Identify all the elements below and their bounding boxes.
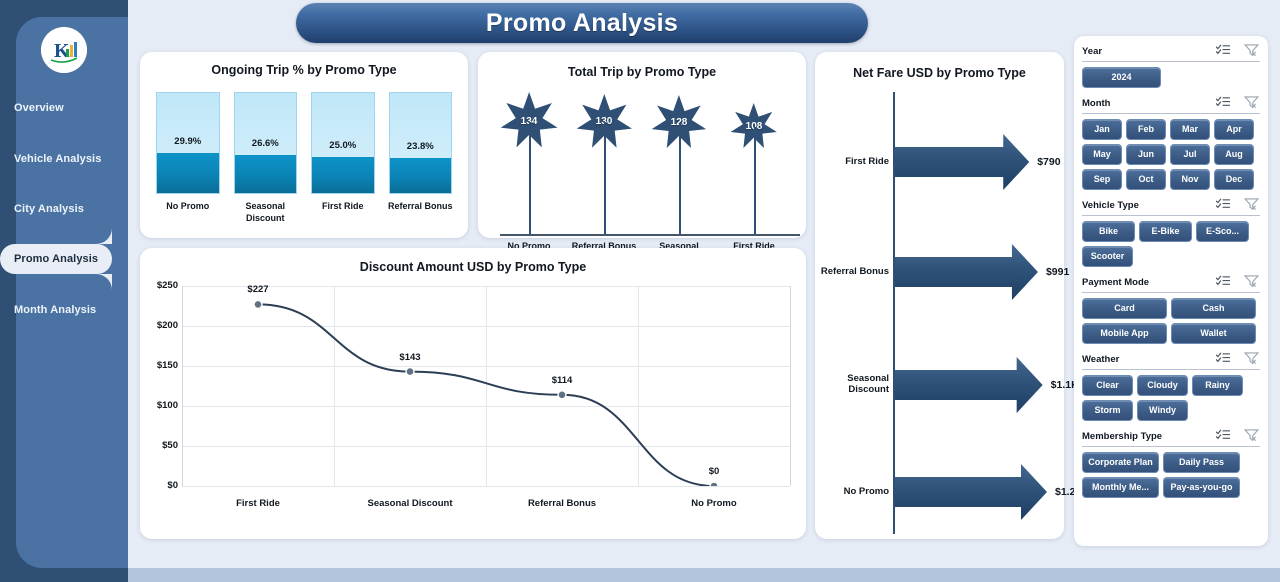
- chart-net-fare: Net Fare USD by Promo Type First Ride$79…: [815, 52, 1064, 539]
- filter-chip-list: 2024: [1082, 67, 1260, 88]
- chart-title-ongoing-trip: Ongoing Trip % by Promo Type: [140, 63, 468, 77]
- chart-ongoing-trip-pct: Ongoing Trip % by Promo Type 29.9%No Pro…: [140, 52, 468, 238]
- filter-header: Weather: [1082, 350, 1260, 369]
- x-axis-tick-label: Referral Bonus: [492, 498, 632, 509]
- filter-chip-oct[interactable]: Oct: [1126, 169, 1166, 190]
- sidebar-item-vehicle-analysis[interactable]: Vehicle Analysis: [0, 144, 112, 174]
- gridline-horizontal: [182, 486, 790, 487]
- sidebar-item-overview[interactable]: Overview: [0, 93, 112, 123]
- sidebar-active-notch-bottom: [96, 274, 112, 290]
- discount-amount-value-label: $0: [684, 466, 744, 477]
- ongoing-trip-bar-fill: [235, 155, 297, 193]
- ongoing-trip-bar-column[interactable]: 25.0%First Ride: [311, 92, 375, 194]
- page-title-text: Promo Analysis: [486, 9, 678, 38]
- filter-chip-mar[interactable]: Mar: [1170, 119, 1210, 140]
- x-axis-tick-label: Seasonal Discount: [340, 498, 480, 509]
- total-trip-stem: [529, 122, 531, 234]
- filter-chip-daily-pass[interactable]: Daily Pass: [1163, 452, 1240, 473]
- sidebar-item-city-analysis[interactable]: City Analysis: [0, 194, 112, 224]
- filter-chip-list: Corporate PlanDaily PassMonthly Me...Pay…: [1082, 452, 1260, 498]
- y-axis-tick-label: $150: [142, 360, 178, 371]
- multi-select-icon[interactable]: [1216, 429, 1231, 447]
- filter-chip-bike[interactable]: Bike: [1082, 221, 1135, 242]
- filter-group-weather: Weather ClearCloudyRainyStormWindy: [1082, 350, 1260, 421]
- net-fare-category-label: Referral Bonus: [815, 266, 889, 277]
- chart-total-trip: Total Trip by Promo Type 134No Promo130R…: [478, 52, 806, 238]
- discount-amount-value-label: $143: [380, 352, 440, 363]
- total-trip-axis-line: [500, 234, 800, 236]
- clear-filter-icon[interactable]: [1244, 429, 1259, 447]
- filter-chip-cloudy[interactable]: Cloudy: [1137, 375, 1188, 396]
- sidebar-item-label: Promo Analysis: [14, 253, 98, 265]
- filter-group-membership-type: Membership Type Corporate PlanDaily Pass…: [1082, 427, 1260, 498]
- filter-title: Membership Type: [1082, 431, 1162, 442]
- total-trip-stem: [754, 127, 756, 234]
- filter-chip-2024[interactable]: 2024: [1082, 67, 1161, 88]
- company-logo-icon: K: [41, 27, 87, 73]
- ongoing-trip-bar-column[interactable]: 29.9%No Promo: [156, 92, 220, 194]
- sidebar-active-notch-top: [96, 228, 112, 244]
- discount-amount-value-label: $227: [228, 284, 288, 295]
- filter-chip-nov[interactable]: Nov: [1170, 169, 1210, 190]
- filter-chip-jul[interactable]: Jul: [1170, 144, 1210, 165]
- y-axis-tick-label: $100: [142, 400, 178, 411]
- net-fare-arrow-row[interactable]: Referral Bonus$991: [815, 242, 1064, 302]
- y-axis-tick-label: $200: [142, 320, 178, 331]
- bottom-strip: [0, 568, 1280, 582]
- net-fare-value-label: $790: [1037, 156, 1060, 168]
- multi-select-icon: [1216, 44, 1231, 57]
- filter-header: Membership Type: [1082, 427, 1260, 446]
- chart-title-net-fare: Net Fare USD by Promo Type: [815, 66, 1064, 80]
- filter-chip-e-sco[interactable]: E-Sco...: [1196, 221, 1249, 242]
- filter-group-month: Month JanFebMarAprMayJunJulAugSepOctNovD…: [1082, 94, 1260, 190]
- sidebar: K OverviewVehicle AnalysisCity AnalysisP…: [0, 0, 128, 582]
- clear-filter-icon: [1244, 198, 1259, 211]
- clear-filter-icon: [1244, 44, 1259, 57]
- ongoing-trip-bar-column[interactable]: 23.8%Referral Bonus: [389, 92, 453, 194]
- discount-amount-line: [182, 286, 790, 486]
- ongoing-trip-category-label: Referral Bonus: [381, 200, 461, 212]
- discount-amount-plot: $0$50$100$150$200$250$227First Ride$143S…: [182, 286, 790, 486]
- multi-select-icon: [1216, 429, 1231, 442]
- ongoing-trip-value-label: 25.0%: [311, 140, 375, 151]
- filter-title: Month: [1082, 98, 1111, 109]
- ongoing-trip-bar-fill: [312, 157, 374, 193]
- chart-title-total-trip: Total Trip by Promo Type: [478, 65, 806, 79]
- net-fare-arrow-shape: [895, 134, 1029, 190]
- sidebar-item-label: Vehicle Analysis: [14, 153, 101, 165]
- x-axis-tick-label: First Ride: [188, 498, 328, 509]
- filter-title: Year: [1082, 46, 1102, 57]
- clear-filter-icon[interactable]: [1244, 96, 1259, 114]
- net-fare-arrow-row[interactable]: SeasonalDiscount$1.1K: [815, 355, 1064, 415]
- ongoing-trip-category-label: First Ride: [303, 200, 383, 212]
- clear-filter-icon[interactable]: [1244, 198, 1259, 216]
- clear-filter-icon[interactable]: [1244, 275, 1259, 293]
- filter-header: Vehicle Type: [1082, 196, 1260, 215]
- ongoing-trip-bar-fill: [157, 153, 219, 193]
- filter-chip-mobile-app[interactable]: Mobile App: [1082, 323, 1167, 344]
- chart-discount-amount: Discount Amount USD by Promo Type $0$50$…: [140, 248, 806, 539]
- ongoing-trip-category-label: SeasonalDiscount: [226, 200, 306, 224]
- multi-select-icon[interactable]: [1216, 352, 1231, 370]
- net-fare-value-label: $991: [1046, 266, 1069, 278]
- filter-chip-monthly-me[interactable]: Monthly Me...: [1082, 477, 1159, 498]
- sidebar-item-label: City Analysis: [14, 203, 84, 215]
- filter-chip-feb[interactable]: Feb: [1126, 119, 1166, 140]
- multi-select-icon: [1216, 198, 1231, 211]
- y-axis-tick-label: $250: [142, 280, 178, 291]
- clear-filter-icon: [1244, 429, 1259, 442]
- ongoing-trip-value-label: 26.6%: [234, 138, 298, 149]
- filter-chip-storm[interactable]: Storm: [1082, 400, 1133, 421]
- filter-chip-clear[interactable]: Clear: [1082, 375, 1133, 396]
- filter-chip-pay-as-you-go[interactable]: Pay-as-you-go: [1163, 477, 1240, 498]
- filter-title: Vehicle Type: [1082, 200, 1139, 211]
- filter-chip-scooter[interactable]: Scooter: [1082, 246, 1133, 267]
- y-axis-tick-label: $0: [142, 480, 178, 491]
- filter-chip-list: CardCashMobile AppWallet: [1082, 298, 1260, 344]
- ongoing-trip-category-label: No Promo: [148, 200, 228, 212]
- ongoing-trip-value-label: 29.9%: [156, 136, 220, 147]
- filter-chip-sep[interactable]: Sep: [1082, 169, 1122, 190]
- net-fare-arrow-row[interactable]: No Promo$1.2K: [815, 462, 1064, 522]
- net-fare-arrow-shape: [895, 244, 1038, 300]
- filter-group-year: Year 2024: [1082, 42, 1260, 88]
- clear-filter-icon: [1244, 96, 1259, 109]
- ongoing-trip-bar-column[interactable]: 26.6%SeasonalDiscount: [234, 92, 298, 194]
- net-fare-arrow-shape: [895, 464, 1047, 520]
- filter-chip-rainy[interactable]: Rainy: [1192, 375, 1243, 396]
- filter-title: Payment Mode: [1082, 277, 1149, 288]
- discount-amount-value-label: $114: [532, 375, 592, 386]
- net-fare-arrow-row[interactable]: First Ride$790: [815, 132, 1064, 192]
- filter-chip-windy[interactable]: Windy: [1137, 400, 1188, 421]
- total-trip-stem: [679, 123, 681, 234]
- chart-title-discount-amount: Discount Amount USD by Promo Type: [140, 260, 806, 274]
- filter-header: Payment Mode: [1082, 273, 1260, 292]
- filter-chip-may[interactable]: May: [1082, 144, 1122, 165]
- sidebar-item-month-analysis[interactable]: Month Analysis: [0, 295, 112, 325]
- filter-chip-jun[interactable]: Jun: [1126, 144, 1166, 165]
- filter-chip-e-bike[interactable]: E-Bike: [1139, 221, 1192, 242]
- filter-chip-list: BikeE-BikeE-Sco...Scooter: [1082, 221, 1260, 267]
- multi-select-icon: [1216, 275, 1231, 288]
- multi-select-icon[interactable]: [1216, 198, 1231, 216]
- ongoing-trip-bars: 29.9%No Promo26.6%SeasonalDiscount25.0%F…: [156, 92, 452, 194]
- ongoing-trip-bar-fill: [390, 158, 452, 193]
- net-fare-category-label: No Promo: [815, 486, 889, 497]
- multi-select-icon[interactable]: [1216, 44, 1231, 62]
- net-fare-category-label: First Ride: [815, 156, 889, 167]
- filter-chip-wallet[interactable]: Wallet: [1171, 323, 1256, 344]
- multi-select-icon: [1216, 96, 1231, 109]
- multi-select-icon[interactable]: [1216, 275, 1231, 293]
- filter-chip-card[interactable]: Card: [1082, 298, 1167, 319]
- total-trip-plot: 134No Promo130Referral Bonus128SeasonalD…: [492, 88, 792, 218]
- filter-chip-corporate-plan[interactable]: Corporate Plan: [1082, 452, 1159, 473]
- filter-chip-jan[interactable]: Jan: [1082, 119, 1122, 140]
- filter-chip-aug[interactable]: Aug: [1214, 144, 1254, 165]
- plot-border-vertical: [790, 286, 791, 486]
- sidebar-item-label: Overview: [14, 102, 64, 114]
- filter-chip-apr[interactable]: Apr: [1214, 119, 1254, 140]
- filter-header: Year: [1082, 42, 1260, 61]
- filter-chip-list: JanFebMarAprMayJunJulAugSepOctNovDec: [1082, 119, 1260, 190]
- multi-select-icon: [1216, 352, 1231, 365]
- clear-filter-icon: [1244, 275, 1259, 288]
- filter-group-payment-mode: Payment Mode CardCashMobile AppWallet: [1082, 273, 1260, 344]
- filter-group-vehicle-type: Vehicle Type BikeE-BikeE-Sco...Scooter: [1082, 196, 1260, 267]
- filter-chip-list: ClearCloudyRainyStormWindy: [1082, 375, 1260, 421]
- net-fare-category-label: SeasonalDiscount: [815, 373, 889, 395]
- clear-filter-icon[interactable]: [1244, 44, 1259, 62]
- filter-pane: Year 2024Month JanFebMarAprMayJunJulAugS…: [1074, 36, 1268, 546]
- sidebar-item-label: Month Analysis: [14, 304, 96, 316]
- clear-filter-icon[interactable]: [1244, 352, 1259, 370]
- net-fare-arrow-shape: [895, 357, 1043, 413]
- sidebar-item-promo-analysis[interactable]: Promo Analysis: [0, 244, 112, 274]
- y-axis-tick-label: $50: [142, 440, 178, 451]
- clear-filter-icon: [1244, 352, 1259, 365]
- filter-header: Month: [1082, 94, 1260, 113]
- filter-chip-cash[interactable]: Cash: [1171, 298, 1256, 319]
- filter-chip-dec[interactable]: Dec: [1214, 169, 1254, 190]
- ongoing-trip-value-label: 23.8%: [389, 141, 453, 152]
- page-title: Promo Analysis: [296, 3, 868, 43]
- multi-select-icon[interactable]: [1216, 96, 1231, 114]
- filter-title: Weather: [1082, 354, 1119, 365]
- x-axis-tick-label: No Promo: [644, 498, 784, 509]
- total-trip-stem: [604, 122, 606, 234]
- dashboard-root: K OverviewVehicle AnalysisCity AnalysisP…: [0, 0, 1280, 582]
